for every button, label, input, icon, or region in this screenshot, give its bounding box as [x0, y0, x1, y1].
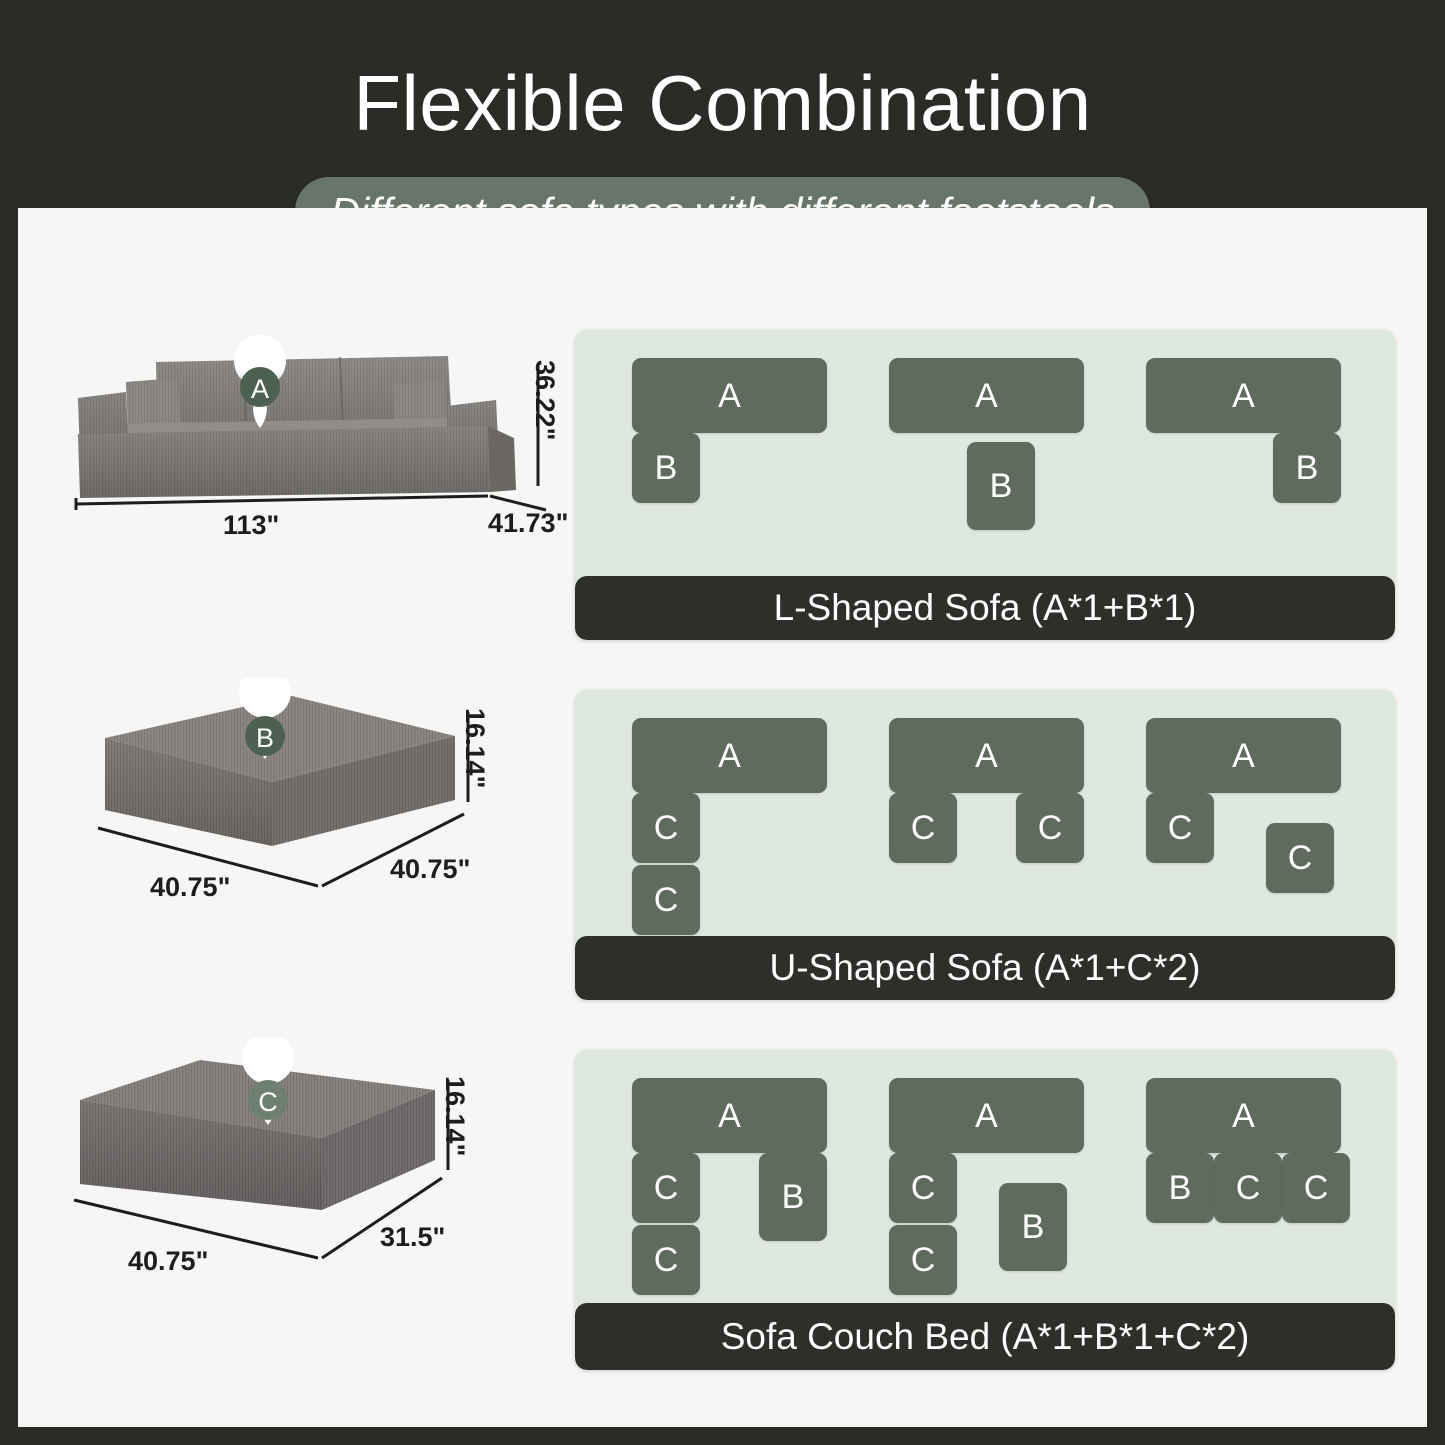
module-block-c: C	[632, 793, 700, 863]
module-block-c: C	[632, 1153, 700, 1223]
panel-2-caption: U-Shaped Sofa (A*1+C*2)	[575, 936, 1395, 1000]
panel-2-stage: ACCACCACC	[575, 690, 1395, 936]
module-block-a: A	[889, 358, 1084, 433]
dim-c-height: 16.14"	[440, 1076, 470, 1156]
combination-panel-sofa-couch-bed: ACCBACCBABCC Sofa Couch Bed (A*1+B*1+C*2…	[575, 1050, 1395, 1370]
combination-panel-u-shaped: ACCACCACC U-Shaped Sofa (A*1+C*2)	[575, 690, 1395, 1000]
dim-b-height: 16.14"	[460, 708, 490, 788]
dim-a-width: 113"	[223, 510, 279, 540]
sofa-a-illustration: 113" 41.73" 36.22" A	[48, 326, 568, 556]
page-title: Flexible Combination	[0, 58, 1445, 148]
module-block-a: A	[1146, 718, 1341, 793]
config-group-3-2: ACCB	[889, 1050, 1129, 1303]
product-photo-a: 113" 41.73" 36.22" A	[48, 326, 568, 556]
dim-a-depth: 41.73"	[488, 508, 568, 538]
dim-b-depth: 40.75"	[390, 854, 470, 884]
config-group-2-1: ACC	[632, 690, 872, 936]
config-group-1-2: AB	[889, 330, 1129, 576]
product-photo-b: 40.75" 40.75" 16.14" B	[60, 678, 560, 918]
module-block-c: C	[1282, 1153, 1350, 1223]
module-block-b: B	[759, 1153, 827, 1241]
module-block-b: B	[1273, 433, 1341, 503]
panel-3-stage: ACCBACCBABCC	[575, 1050, 1395, 1303]
product-photo-c: 40.75" 31.5" 16.14" C	[50, 1038, 550, 1288]
module-block-b: B	[999, 1183, 1067, 1271]
panel-1-stage: ABABAB	[575, 330, 1395, 576]
module-block-c: C	[632, 1225, 700, 1295]
module-block-a: A	[889, 1078, 1084, 1153]
panel-1-caption: L-Shaped Sofa (A*1+B*1)	[575, 576, 1395, 640]
dim-c-width: 40.75"	[128, 1246, 208, 1276]
content-canvas: 113" 41.73" 36.22" A	[18, 208, 1427, 1427]
module-block-a: A	[632, 1078, 827, 1153]
module-block-c: C	[1214, 1153, 1282, 1223]
module-block-b: B	[1146, 1153, 1214, 1223]
config-group-3-3: ABCC	[1146, 1050, 1386, 1303]
module-block-b: B	[632, 433, 700, 503]
config-group-3-1: ACCB	[632, 1050, 872, 1303]
infographic-root: Flexible Combination Different sofa type…	[0, 0, 1445, 1445]
config-group-1-3: AB	[1146, 330, 1386, 576]
module-block-c: C	[889, 1153, 957, 1223]
module-block-c: C	[632, 865, 700, 935]
config-group-2-2: ACC	[889, 690, 1129, 936]
marker-label-c: C	[258, 1087, 278, 1117]
module-block-c: C	[1146, 793, 1214, 863]
ottoman-c-illustration: 40.75" 31.5" 16.14" C	[50, 1038, 550, 1288]
config-group-1-1: AB	[632, 330, 872, 576]
dim-b-width: 40.75"	[150, 872, 230, 902]
panel-3-caption: Sofa Couch Bed (A*1+B*1+C*2)	[575, 1303, 1395, 1370]
marker-label-a: A	[251, 374, 269, 404]
combination-panel-l-shaped: ABABAB L-Shaped Sofa (A*1+B*1)	[575, 330, 1395, 640]
ottoman-b-illustration: 40.75" 40.75" 16.14" B	[60, 678, 560, 918]
module-block-a: A	[632, 718, 827, 793]
module-block-a: A	[1146, 1078, 1341, 1153]
module-block-a: A	[632, 358, 827, 433]
config-group-2-3: ACC	[1146, 690, 1386, 936]
module-block-b: B	[967, 442, 1035, 530]
module-block-a: A	[889, 718, 1084, 793]
dim-c-depth: 31.5"	[380, 1222, 445, 1252]
module-block-c: C	[1016, 793, 1084, 863]
module-block-c: C	[1266, 823, 1334, 893]
module-block-c: C	[889, 793, 957, 863]
dim-a-height: 36.22"	[530, 360, 560, 440]
module-block-c: C	[889, 1225, 957, 1295]
module-block-a: A	[1146, 358, 1341, 433]
marker-label-b: B	[256, 723, 274, 753]
